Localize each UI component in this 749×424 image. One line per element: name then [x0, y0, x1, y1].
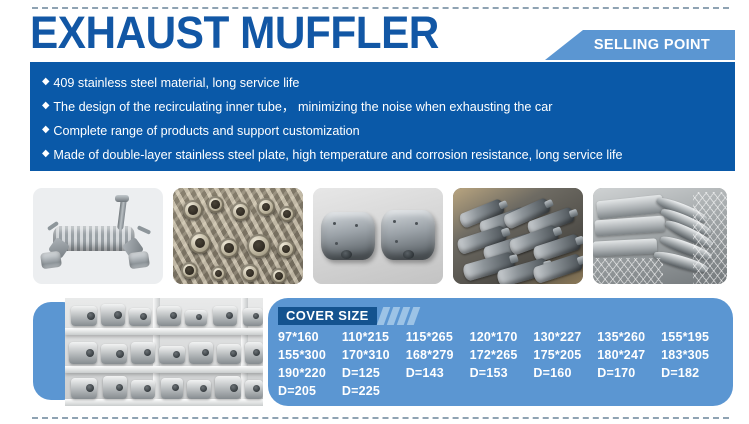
feature-item: ◆ 409 stainless steel material, long ser… [42, 70, 714, 94]
feature-list-panel: ◆ 409 stainless steel material, long ser… [30, 62, 735, 171]
page-title: EXHAUST MUFFLER [30, 9, 439, 57]
feature-item: ◆ Made of double-layer stainless steel p… [42, 142, 714, 166]
muffler-shells-rows-photo [453, 188, 583, 284]
size-cell: D=153 [470, 365, 534, 382]
size-cell: 175*205 [533, 347, 597, 364]
size-cell: D=205 [278, 383, 342, 400]
size-cell: 170*310 [342, 347, 406, 364]
diamond-bullet-icon: ◆ [42, 101, 49, 111]
size-cell: 115*265 [406, 329, 470, 346]
diamond-bullet-icon: ◆ [42, 125, 49, 135]
size-cell: D=160 [533, 365, 597, 382]
selling-point-badge: SELLING POINT [545, 30, 735, 60]
size-cell [470, 383, 534, 400]
size-cell: D=182 [661, 365, 725, 382]
feature-text: Complete range of products and support c… [53, 123, 359, 138]
cover-size-grid: 97*160 110*215 115*265 120*170 130*227 1… [278, 329, 733, 400]
size-cell: 135*260 [597, 329, 661, 346]
curved-tubes-basket-photo [593, 188, 727, 284]
muffler-bodies-pair-photo [313, 188, 443, 284]
diamond-bullet-icon: ◆ [42, 149, 49, 159]
size-cell: D=143 [406, 365, 470, 382]
size-cell [597, 383, 661, 400]
size-cell: 97*160 [278, 329, 342, 346]
product-banner: EXHAUST MUFFLER SELLING POINT ◆ 409 stai… [0, 0, 749, 424]
size-cell: 168*279 [406, 347, 470, 364]
size-cell [533, 383, 597, 400]
size-cell [661, 383, 725, 400]
size-cell: 172*265 [470, 347, 534, 364]
cover-size-header: COVER SIZE [278, 307, 733, 325]
size-cell: 120*170 [470, 329, 534, 346]
bottom-dashed-rule [32, 417, 729, 419]
size-cell [406, 383, 470, 400]
size-cell: D=125 [342, 365, 406, 382]
warehouse-shelving-photo [65, 298, 263, 406]
size-cell: 130*227 [533, 329, 597, 346]
size-cell: D=170 [597, 365, 661, 382]
size-cell: 190*220 [278, 365, 342, 382]
stripe-decoration-icon [380, 307, 420, 325]
diamond-bullet-icon: ◆ [42, 77, 49, 87]
cover-size-panel: COVER SIZE 97*160 110*215 115*265 120*17… [268, 298, 733, 406]
size-cell: 180*247 [597, 347, 661, 364]
size-cell: 155*195 [661, 329, 725, 346]
bottom-section: COVER SIZE 97*160 110*215 115*265 120*17… [33, 298, 733, 406]
size-cell: 183*305 [661, 347, 725, 364]
product-photo-strip [33, 188, 733, 284]
exhaust-assembly-photo [33, 188, 163, 284]
size-cell: 110*215 [342, 329, 406, 346]
pipe-flanges-stack-photo [173, 188, 303, 284]
feature-text: Made of double-layer stainless steel pla… [53, 147, 622, 162]
size-cell: 155*300 [278, 347, 342, 364]
feature-item: ◆ Complete range of products and support… [42, 118, 714, 142]
feature-item: ◆ The design of the recirculating inner … [42, 94, 714, 118]
feature-text: The design of the recirculating inner tu… [53, 99, 552, 114]
cover-size-heading: COVER SIZE [278, 307, 377, 325]
size-cell: D=225 [342, 383, 406, 400]
feature-text: 409 stainless steel material, long servi… [53, 75, 299, 90]
